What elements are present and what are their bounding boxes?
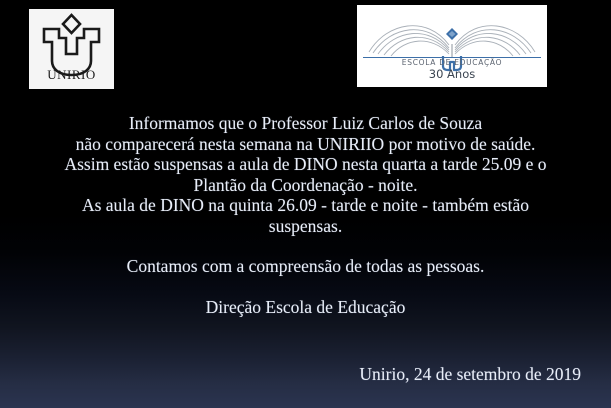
announcement-slide: UNIRIO [0,0,611,408]
unirio-logo: UNIRIO [29,9,114,89]
signature-line: Direção Escola de Educação [0,297,611,318]
escola-de-educacao-logo: ESCOLA DE EDUCAÇÃO 30 Anos [357,5,547,87]
message-line-4: Plantão da Coordenação - noite. [0,175,611,196]
announcement-body: Informamos que o Professor Luiz Carlos d… [0,113,611,317]
message-line-3: Assim estão suspensas a aula de DINO nes… [0,154,611,175]
escola-logo-title: ESCOLA DE EDUCAÇÃO [357,59,547,67]
paragraph-spacer-2 [0,277,611,297]
message-line-1: Informamos que o Professor Luiz Carlos d… [0,113,611,134]
message-line-5: As aula de DINO na quinta 26.09 - tarde … [0,195,611,216]
message-line-6: suspensas. [0,216,611,237]
escola-logo-text: ESCOLA DE EDUCAÇÃO 30 Anos [357,59,547,80]
paragraph-spacer-1 [0,236,611,256]
unirio-wordmark: UNIRIO [29,67,114,83]
escola-logo-subtitle: 30 Anos [357,68,547,80]
closing-line: Contamos com a compreensão de todas as p… [0,256,611,277]
message-line-2: não comparecerá nesta semana na UNIRIIO … [0,134,611,155]
date-line: Unirio, 24 de setembro de 2019 [359,364,581,385]
